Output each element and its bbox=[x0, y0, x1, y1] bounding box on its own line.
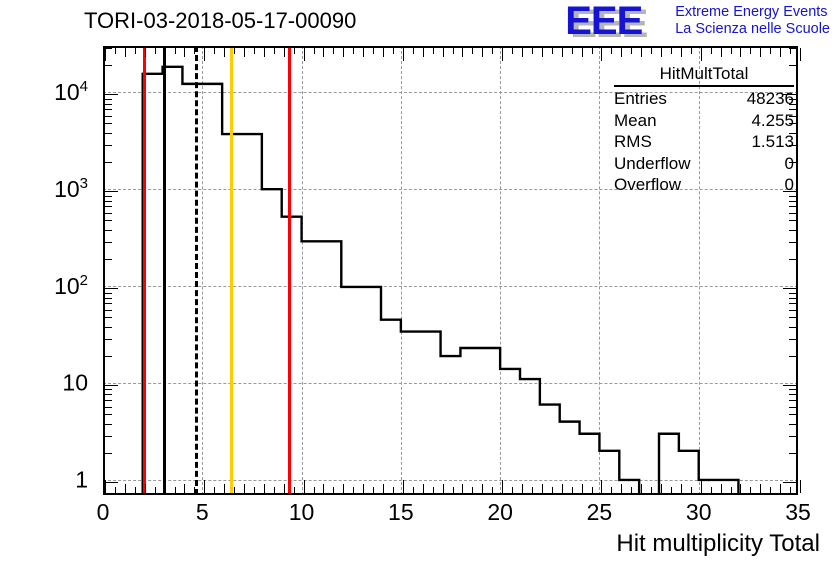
y-tick bbox=[105, 310, 112, 311]
x-tick bbox=[423, 484, 424, 493]
x-tick bbox=[244, 484, 245, 493]
stats-row: Entries48236 bbox=[614, 88, 794, 110]
eee-logo-line2: La Scienza nelle Scuole bbox=[675, 21, 830, 38]
x-tick bbox=[284, 484, 285, 493]
y-tick bbox=[105, 65, 112, 66]
x-tick-top bbox=[433, 48, 434, 54]
x-tick-top bbox=[423, 48, 424, 57]
eee-logo-text: Extreme Energy Events La Scienza nelle S… bbox=[675, 2, 830, 38]
x-tick-top bbox=[115, 48, 116, 54]
y-tick-right bbox=[789, 293, 796, 294]
x-tick-top bbox=[175, 48, 176, 54]
x-tick bbox=[631, 487, 632, 493]
y-tick bbox=[105, 109, 112, 110]
y-tick-right bbox=[783, 385, 796, 386]
y-tick-right bbox=[789, 298, 796, 299]
x-tick-top bbox=[512, 48, 513, 54]
x-tick-top bbox=[284, 48, 285, 57]
x-tick-top bbox=[740, 48, 741, 57]
x-tick bbox=[343, 484, 344, 493]
x-tick bbox=[333, 487, 334, 493]
y-tick bbox=[105, 123, 112, 124]
x-tick-label: 35 bbox=[785, 499, 811, 526]
x-tick-top bbox=[443, 48, 444, 57]
x-tick bbox=[542, 484, 543, 493]
x-tick bbox=[621, 484, 622, 493]
x-tick bbox=[165, 484, 166, 493]
y-tick bbox=[105, 145, 112, 146]
x-tick-top bbox=[333, 48, 334, 54]
x-tick-top bbox=[601, 48, 602, 61]
x-tick bbox=[482, 484, 483, 493]
x-tick bbox=[661, 484, 662, 493]
x-tick-top bbox=[383, 48, 384, 57]
x-tick bbox=[770, 487, 771, 493]
y-tick-right bbox=[789, 206, 796, 207]
x-tick-top bbox=[572, 48, 573, 54]
y-tick bbox=[105, 191, 118, 192]
stats-box: HitMultTotal Entries48236Mean4.255RMS1.5… bbox=[614, 64, 794, 196]
x-tick-label: 30 bbox=[686, 499, 712, 526]
eee-logo-line1: Extreme Energy Events bbox=[675, 4, 830, 21]
stats-row: Underflow0 bbox=[614, 153, 794, 175]
x-tick bbox=[780, 484, 781, 493]
x-tick-label: 0 bbox=[97, 499, 110, 526]
x-tick-top bbox=[462, 48, 463, 57]
x-tick-top bbox=[274, 48, 275, 54]
y-tick bbox=[105, 327, 112, 328]
x-tick bbox=[790, 487, 791, 493]
x-tick bbox=[492, 487, 493, 493]
x-tick-top bbox=[721, 48, 722, 57]
x-tick-top bbox=[750, 48, 751, 54]
x-tick-top bbox=[671, 48, 672, 54]
y-tick bbox=[105, 424, 112, 425]
x-tick-top bbox=[522, 48, 523, 57]
stats-row-key: Overflow bbox=[614, 174, 681, 196]
x-tick bbox=[750, 487, 751, 493]
x-tick bbox=[323, 484, 324, 493]
y-tick bbox=[105, 206, 112, 207]
stats-box-title: HitMultTotal bbox=[614, 64, 794, 87]
x-tick bbox=[601, 480, 602, 493]
x-tick bbox=[403, 480, 404, 493]
y-tick bbox=[105, 303, 112, 304]
x-tick-top bbox=[770, 48, 771, 54]
eee-logo-front: EEE bbox=[565, 2, 642, 40]
x-tick-top bbox=[244, 48, 245, 57]
y-tick-right bbox=[783, 288, 796, 289]
x-tick-top bbox=[403, 48, 404, 61]
stats-row: Mean4.255 bbox=[614, 110, 794, 132]
x-tick-top bbox=[393, 48, 394, 54]
y-tick bbox=[105, 407, 112, 408]
y-tick bbox=[105, 201, 112, 202]
x-tick-top bbox=[691, 48, 692, 54]
x-tick-top bbox=[373, 48, 374, 54]
y-tick bbox=[105, 453, 112, 454]
y-tick bbox=[105, 196, 112, 197]
x-tick bbox=[194, 487, 195, 493]
y-tick-label: 10 bbox=[62, 370, 88, 397]
x-tick-top bbox=[780, 48, 781, 57]
x-tick-label: 15 bbox=[388, 499, 414, 526]
stats-row-key: Underflow bbox=[614, 153, 691, 175]
y-tick bbox=[105, 482, 118, 483]
y-tick-right bbox=[789, 389, 796, 390]
x-tick-top bbox=[254, 48, 255, 54]
y-tick bbox=[105, 104, 112, 105]
x-tick-top bbox=[323, 48, 324, 57]
y-tick-right bbox=[789, 407, 796, 408]
stats-row-key: Entries bbox=[614, 88, 667, 110]
x-tick-top bbox=[165, 48, 166, 57]
y-tick bbox=[105, 242, 112, 243]
y-tick-right bbox=[789, 327, 796, 328]
y-tick-label: 104 bbox=[54, 78, 88, 106]
y-tick-right bbox=[789, 453, 796, 454]
x-tick-top bbox=[145, 48, 146, 57]
y-tick-label: 1 bbox=[75, 466, 88, 493]
stats-row: RMS1.513 bbox=[614, 131, 794, 153]
x-tick bbox=[731, 487, 732, 493]
y-tick bbox=[105, 385, 118, 386]
x-tick bbox=[691, 487, 692, 493]
y-tick bbox=[105, 288, 118, 289]
x-tick-top bbox=[413, 48, 414, 54]
y-tick-right bbox=[789, 259, 796, 260]
x-tick bbox=[562, 484, 563, 493]
x-tick-top bbox=[453, 48, 454, 54]
x-tick bbox=[214, 487, 215, 493]
y-tick-right bbox=[789, 213, 796, 214]
x-tick-top bbox=[711, 48, 712, 54]
x-tick bbox=[413, 487, 414, 493]
y-tick-right bbox=[789, 220, 796, 221]
y-tick-label: 102 bbox=[54, 272, 88, 300]
y-tick bbox=[105, 293, 112, 294]
x-tick bbox=[552, 487, 553, 493]
y-tick bbox=[105, 436, 112, 437]
x-tick bbox=[582, 484, 583, 493]
y-tick bbox=[105, 339, 112, 340]
x-tick bbox=[234, 487, 235, 493]
eee-logo-mark: EEE EEE bbox=[565, 2, 669, 42]
x-tick-top bbox=[472, 48, 473, 54]
y-tick-right bbox=[789, 414, 796, 415]
stats-row-value: 48236 bbox=[747, 88, 794, 110]
y-tick-right bbox=[789, 339, 796, 340]
x-tick bbox=[254, 487, 255, 493]
x-tick bbox=[155, 487, 156, 493]
stats-row-value: 0 bbox=[785, 174, 794, 196]
x-tick bbox=[453, 487, 454, 493]
x-tick bbox=[611, 487, 612, 493]
y-tick bbox=[105, 394, 112, 395]
x-tick-top bbox=[125, 48, 126, 57]
x-tick-top bbox=[264, 48, 265, 57]
x-tick bbox=[433, 487, 434, 493]
y-tick-right bbox=[789, 196, 796, 197]
y-tick-right bbox=[789, 201, 796, 202]
y-tick bbox=[105, 317, 112, 318]
y-tick-right bbox=[783, 482, 796, 483]
x-tick bbox=[701, 480, 702, 493]
x-tick-top bbox=[661, 48, 662, 57]
x-tick bbox=[681, 484, 682, 493]
x-tick bbox=[274, 487, 275, 493]
y-tick-right bbox=[789, 424, 796, 425]
x-tick bbox=[502, 480, 503, 493]
stats-row-key: RMS bbox=[614, 131, 652, 153]
y-tick-right bbox=[789, 303, 796, 304]
stats-row-key: Mean bbox=[614, 110, 657, 132]
x-tick bbox=[522, 484, 523, 493]
x-tick-top bbox=[304, 48, 305, 61]
y-tick bbox=[105, 389, 112, 390]
x-tick-top bbox=[621, 48, 622, 57]
x-tick-top bbox=[731, 48, 732, 54]
x-tick bbox=[651, 487, 652, 493]
x-tick bbox=[145, 484, 146, 493]
x-tick-top bbox=[611, 48, 612, 54]
x-tick bbox=[115, 487, 116, 493]
y-tick bbox=[105, 400, 112, 401]
x-tick-top bbox=[582, 48, 583, 57]
x-tick-top bbox=[542, 48, 543, 57]
x-tick-top bbox=[155, 48, 156, 54]
x-tick bbox=[224, 484, 225, 493]
x-tick bbox=[671, 487, 672, 493]
x-tick-top bbox=[562, 48, 563, 57]
stats-row-value: 1.513 bbox=[751, 131, 794, 153]
x-tick bbox=[641, 484, 642, 493]
x-tick bbox=[721, 484, 722, 493]
y-tick bbox=[105, 213, 112, 214]
y-tick-right bbox=[789, 436, 796, 437]
x-tick bbox=[314, 487, 315, 493]
x-tick bbox=[363, 484, 364, 493]
page-title: TORI-03-2018-05-17-00090 bbox=[84, 8, 356, 34]
x-tick bbox=[443, 484, 444, 493]
x-tick bbox=[353, 487, 354, 493]
x-tick bbox=[512, 487, 513, 493]
y-tick bbox=[105, 116, 112, 117]
stats-row-value: 4.255 bbox=[751, 110, 794, 132]
x-tick-top bbox=[492, 48, 493, 54]
x-tick bbox=[592, 487, 593, 493]
y-tick bbox=[105, 259, 112, 260]
y-tick-right bbox=[789, 356, 796, 357]
x-tick bbox=[175, 487, 176, 493]
y-tick bbox=[105, 220, 112, 221]
x-tick bbox=[125, 484, 126, 493]
x-tick-top bbox=[482, 48, 483, 57]
plot-canvas: TORI-03-2018-05-17-00090 EEE EEE Extreme… bbox=[0, 0, 836, 572]
x-tick-top bbox=[502, 48, 503, 61]
y-tick-right bbox=[789, 317, 796, 318]
y-tick bbox=[105, 298, 112, 299]
x-tick-top bbox=[532, 48, 533, 54]
x-tick-top bbox=[641, 48, 642, 57]
x-tick-top bbox=[224, 48, 225, 57]
x-axis-title: Hit multiplicity Total bbox=[616, 530, 820, 558]
eee-logo: EEE EEE Extreme Energy Events La Scienza… bbox=[565, 2, 830, 42]
y-tick-right bbox=[789, 230, 796, 231]
x-tick bbox=[135, 487, 136, 493]
y-tick bbox=[105, 162, 112, 163]
y-tick bbox=[105, 414, 112, 415]
y-tick-right bbox=[789, 310, 796, 311]
x-tick-top bbox=[800, 48, 801, 61]
x-tick-top bbox=[314, 48, 315, 54]
y-tick bbox=[105, 94, 118, 95]
x-tick-top bbox=[701, 48, 702, 61]
y-tick bbox=[105, 48, 112, 49]
x-tick bbox=[184, 484, 185, 493]
x-tick-top bbox=[343, 48, 344, 57]
x-tick-label: 10 bbox=[289, 499, 315, 526]
x-tick-top bbox=[204, 48, 205, 61]
y-tick bbox=[105, 133, 112, 134]
x-tick-top bbox=[552, 48, 553, 54]
x-tick bbox=[740, 484, 741, 493]
y-tick-right bbox=[789, 48, 796, 49]
stats-row: Overflow0 bbox=[614, 174, 794, 196]
x-tick bbox=[462, 484, 463, 493]
x-tick-label: 20 bbox=[487, 499, 513, 526]
x-tick bbox=[711, 487, 712, 493]
y-tick bbox=[105, 356, 112, 357]
x-tick bbox=[264, 484, 265, 493]
x-tick-top bbox=[194, 48, 195, 54]
y-tick-right bbox=[789, 394, 796, 395]
x-tick-top bbox=[681, 48, 682, 57]
x-tick bbox=[572, 487, 573, 493]
x-tick bbox=[373, 487, 374, 493]
x-tick-top bbox=[592, 48, 593, 54]
x-tick bbox=[294, 487, 295, 493]
x-tick bbox=[532, 487, 533, 493]
x-tick-top bbox=[214, 48, 215, 54]
x-tick bbox=[393, 487, 394, 493]
y-tick bbox=[105, 230, 112, 231]
y-tick-right bbox=[789, 242, 796, 243]
x-tick bbox=[760, 484, 761, 493]
x-tick-top bbox=[760, 48, 761, 57]
x-tick-top bbox=[184, 48, 185, 57]
x-tick-top bbox=[363, 48, 364, 57]
x-tick bbox=[472, 487, 473, 493]
x-tick-top bbox=[631, 48, 632, 54]
x-tick-label: 25 bbox=[587, 499, 613, 526]
x-tick-top bbox=[353, 48, 354, 54]
x-tick-top bbox=[651, 48, 652, 54]
x-tick-top bbox=[294, 48, 295, 54]
y-tick bbox=[105, 99, 112, 100]
x-tick-top bbox=[234, 48, 235, 54]
x-tick-top bbox=[105, 48, 106, 61]
stats-box-rows: Entries48236Mean4.255RMS1.513Underflow0O… bbox=[614, 88, 794, 196]
stats-row-value: 0 bbox=[785, 153, 794, 175]
x-tick-label: 5 bbox=[196, 499, 209, 526]
y-tick-right bbox=[789, 400, 796, 401]
x-tick bbox=[204, 480, 205, 493]
y-tick-label: 103 bbox=[54, 175, 88, 203]
x-tick bbox=[304, 480, 305, 493]
x-tick bbox=[383, 484, 384, 493]
x-tick-top bbox=[135, 48, 136, 54]
x-tick bbox=[800, 480, 801, 493]
